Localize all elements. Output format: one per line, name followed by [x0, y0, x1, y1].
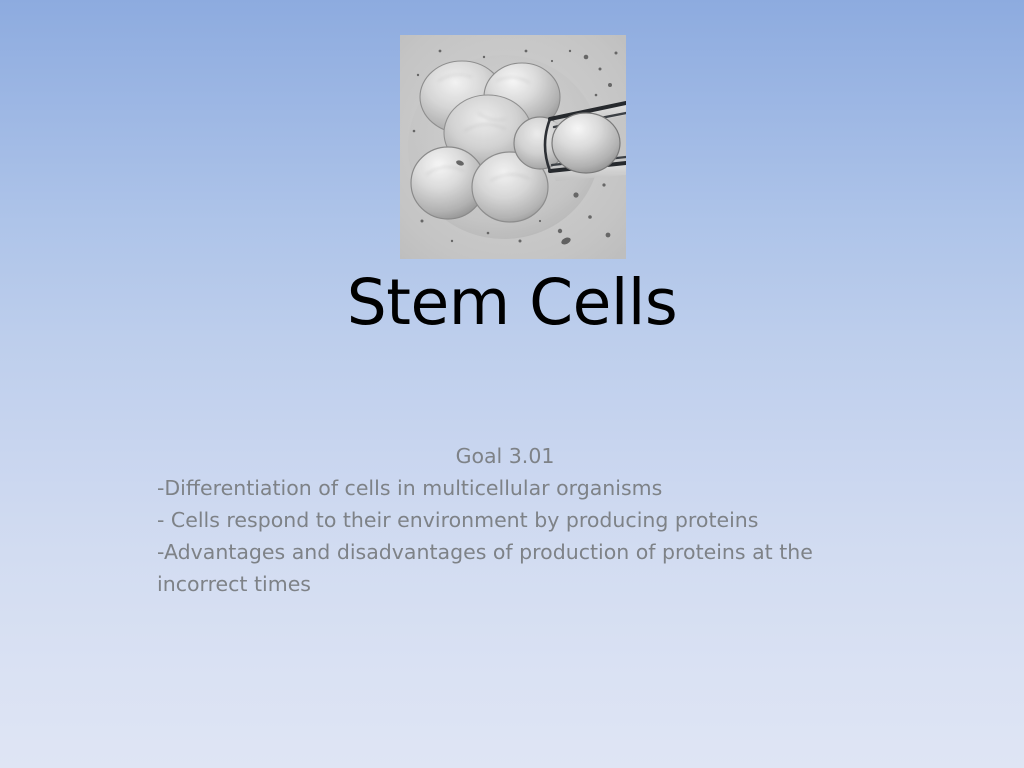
body-line-cells-respond: - Cells respond to their environment by …	[157, 504, 867, 536]
presentation-slide: Stem Cells Goal 3.01 -Differentiation of…	[0, 0, 1024, 768]
body-line-differentiation: -Differentiation of cells in multicellul…	[157, 472, 867, 504]
slide-body-text: Goal 3.01 -Differentiation of cells in m…	[157, 440, 867, 600]
page-title: Stem Cells	[0, 271, 1024, 334]
body-line-goal: Goal 3.01	[157, 440, 867, 472]
embryo-micropipette-image	[400, 35, 626, 259]
image-wash	[400, 35, 626, 259]
body-line-advantages: -Advantages and disadvantages of product…	[157, 536, 867, 600]
embryo-illustration	[400, 35, 626, 259]
